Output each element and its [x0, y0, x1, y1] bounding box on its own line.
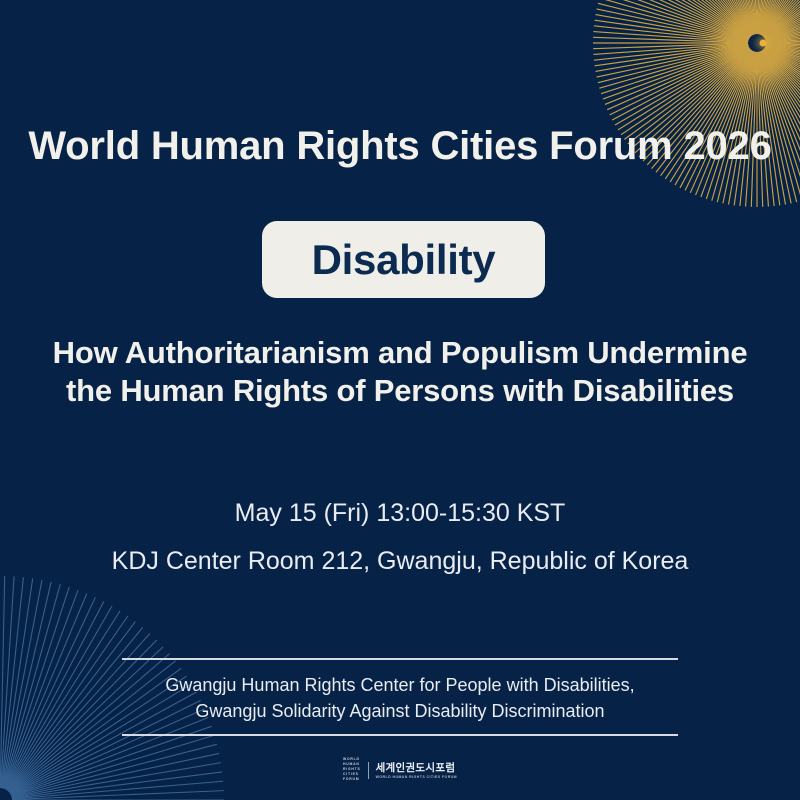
footer-logo: WORLD HUMAN RIGHTS CITIES FORUM 세계인권도시포럼…: [0, 758, 800, 782]
logo-divider: [368, 762, 369, 779]
sunburst-top-right-icon: [592, 0, 800, 208]
organizer-line-2: Gwangju Solidarity Against Disability Di…: [122, 698, 678, 724]
logo-wordmark: 세계인권도시포럼 WORLD HUMAN RIGHTS CITIES FORUM: [376, 762, 457, 779]
logo-stack-line-5: FORUM: [343, 778, 359, 782]
topic-badge-label: Disability: [312, 239, 496, 281]
poster-canvas: World Human Rights Cities Forum 2026 Dis…: [0, 0, 800, 800]
page-title: World Human Rights Cities Forum 2026: [0, 122, 800, 170]
logo-english-wordmark: WORLD HUMAN RIGHTS CITIES FORUM: [376, 775, 457, 779]
logo-korean-wordmark: 세계인권도시포럼: [376, 762, 456, 774]
sunburst-core-glow: [763, 43, 770, 50]
event-venue: KDJ Center Room 212, Gwangju, Republic o…: [0, 545, 800, 578]
event-datetime: May 15 (Fri) 13:00-15:30 KST: [0, 497, 800, 530]
event-details: May 15 (Fri) 13:00-15:30 KST KDJ Center …: [0, 497, 800, 578]
logo-stacked-mark-icon: WORLD HUMAN RIGHTS CITIES FORUM: [343, 758, 361, 782]
session-headline-line-1: How Authoritarianism and Populism Underm…: [53, 335, 748, 370]
organizers-block: Gwangju Human Rights Center for People w…: [122, 658, 678, 736]
session-headline: How Authoritarianism and Populism Underm…: [20, 334, 780, 410]
session-headline-line-2: the Human Rights of Persons with Disabil…: [66, 373, 734, 408]
organizer-line-1: Gwangju Human Rights Center for People w…: [122, 672, 678, 698]
topic-badge: Disability: [262, 221, 545, 298]
